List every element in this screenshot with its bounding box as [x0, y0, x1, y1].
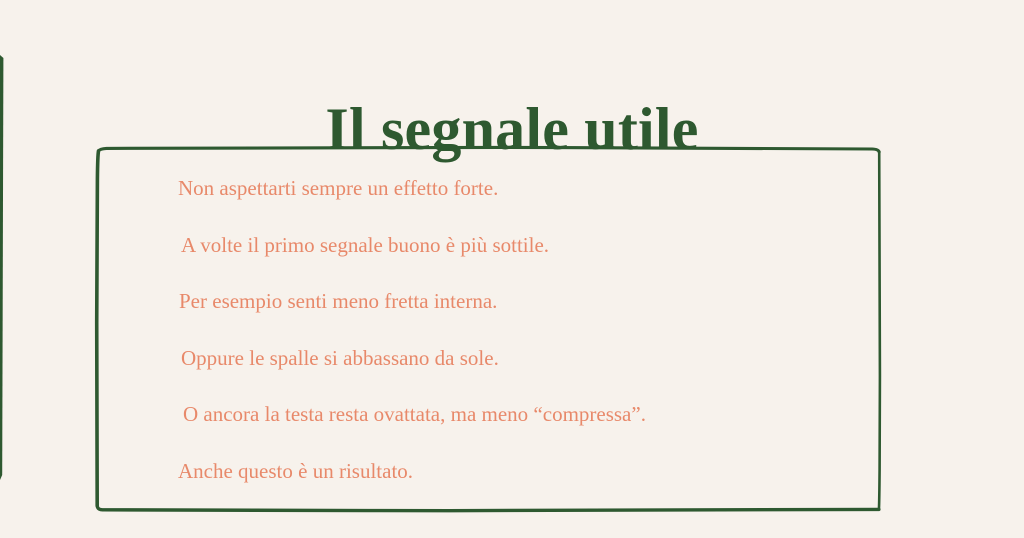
- body-line: O ancora la testa resta ovattata, ma men…: [178, 404, 858, 461]
- body-line: Anche questo è un risultato.: [178, 461, 858, 518]
- body-line: Oppure le spalle si abbassano da sole.: [178, 348, 858, 405]
- body-text-list: Non aspettarti sempre un effetto forte. …: [178, 178, 858, 517]
- body-line: A volte il primo segnale buono è più sot…: [178, 235, 858, 292]
- body-line: Non aspettarti sempre un effetto forte.: [178, 178, 858, 235]
- slide-canvas: Il segnale utile Non aspettarti sempre u…: [0, 0, 1024, 538]
- body-line: Per esempio senti meno fretta interna.: [178, 291, 858, 348]
